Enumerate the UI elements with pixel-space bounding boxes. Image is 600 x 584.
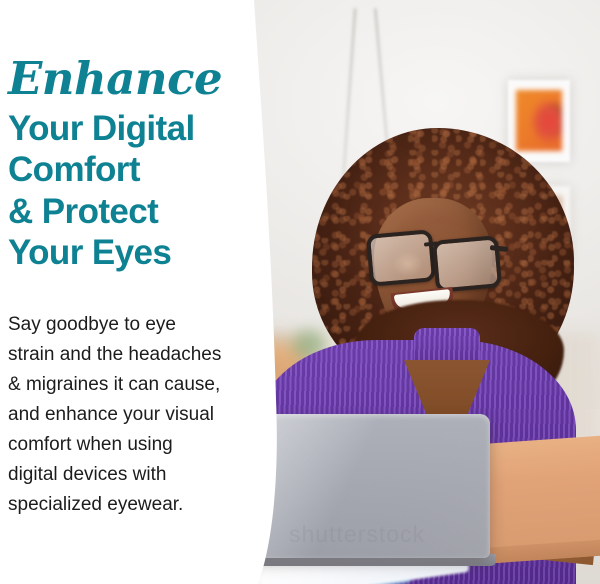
body-copy-block: Say goodbye to eye strain and the headac… <box>8 310 260 520</box>
stock-photo-watermark: shutterstock <box>262 521 452 548</box>
headline-line-4: Your Eyes <box>8 232 258 273</box>
body-line-2: strain and the headaches <box>8 340 260 370</box>
body-line-4: and enhance your visual <box>8 400 260 430</box>
eyeglasses <box>368 232 502 278</box>
body-line-6: digital devices with <box>8 460 260 490</box>
headline-line-2: Comfort <box>8 149 258 190</box>
body-line-3: & migraines it can cause, <box>8 370 260 400</box>
headline-line-1: Your Digital <box>8 108 258 149</box>
eyeglasses-lens-left <box>366 229 436 287</box>
body-line-7: specialized eyewear. <box>8 490 260 520</box>
headline-script-word: Enhance <box>8 56 222 101</box>
eyeglasses-lens-right <box>432 235 502 293</box>
body-line-1: Say goodbye to eye <box>8 310 260 340</box>
promo-banner: shutterstock Enhance Your Digital Comfor… <box>0 0 600 584</box>
artwork-orange-abstract <box>516 90 562 151</box>
framed-artwork-upper <box>508 80 570 162</box>
headline-line-3: & Protect <box>8 191 258 232</box>
body-line-5: comfort when using <box>8 430 260 460</box>
lifestyle-photo: shutterstock <box>236 0 600 584</box>
headline-block: Your Digital Comfort & Protect Your Eyes <box>8 108 258 273</box>
text-panel: Enhance Your Digital Comfort & Protect Y… <box>0 0 262 584</box>
